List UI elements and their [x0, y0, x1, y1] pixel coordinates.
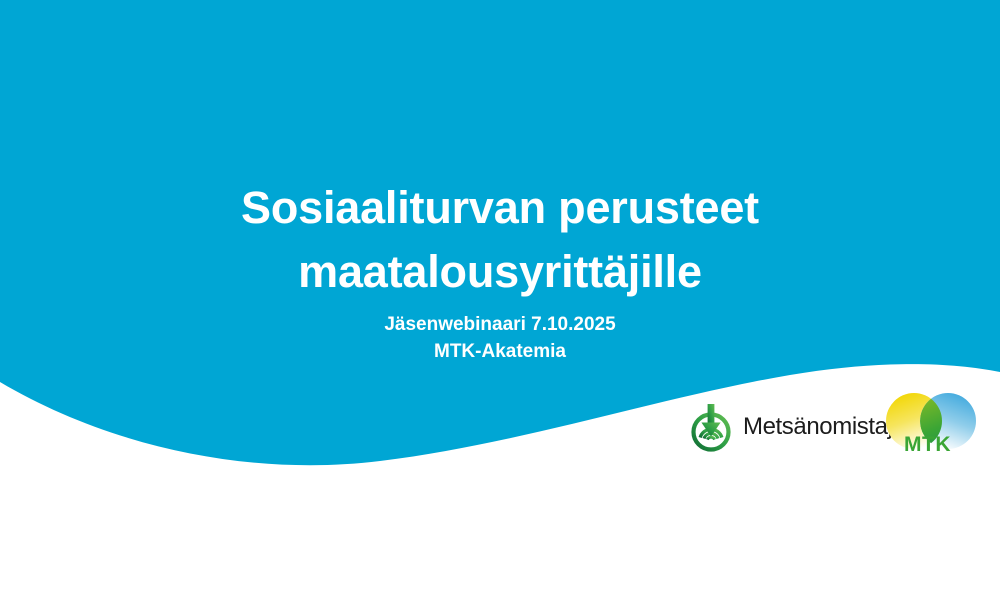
- metsanomistajat-tree-ring-arrow-icon: [688, 402, 734, 452]
- title-line-1: Sosiaaliturvan perusteet: [0, 176, 1000, 240]
- page-subtitle: Jäsenwebinaari 7.10.2025 MTK-Akatemia: [0, 311, 1000, 365]
- subtitle-line-organizer: MTK-Akatemia: [0, 338, 1000, 365]
- title-line-2: maatalousyrittäjille: [0, 240, 1000, 304]
- logo-mtk: MTK: [882, 392, 992, 478]
- mtk-wordmark: MTK: [904, 433, 951, 457]
- page-title: Sosiaaliturvan perusteet maatalousyrittä…: [0, 176, 1000, 304]
- subtitle-line-event: Jäsenwebinaari 7.10.2025: [0, 311, 1000, 338]
- logo-bar: Metsänomistajat: [660, 392, 1000, 478]
- presentation-title-slide: Sosiaaliturvan perusteet maatalousyrittä…: [0, 0, 1000, 600]
- logo-metsanomistajat: Metsänomistajat: [688, 402, 912, 452]
